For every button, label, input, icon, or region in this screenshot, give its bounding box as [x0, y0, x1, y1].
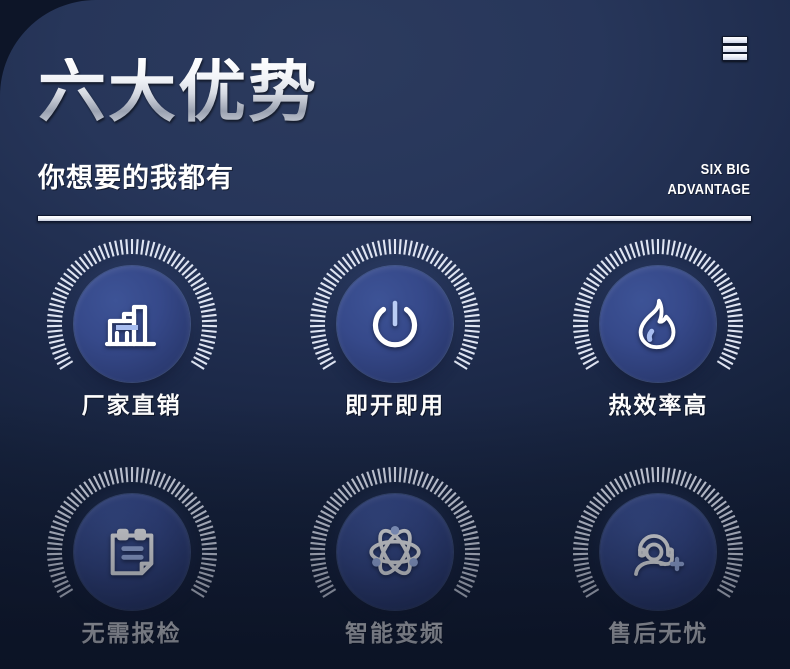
feature-icon-circle: [600, 266, 716, 382]
feature-item-flame[interactable]: 热效率高: [527, 236, 790, 420]
power-icon: [365, 294, 425, 354]
feature-badge: [572, 236, 744, 388]
header-divider: [37, 215, 752, 222]
feature-icon-circle: [74, 494, 190, 610]
feature-item-power[interactable]: 即开即用: [263, 236, 526, 420]
feature-badge: [309, 464, 481, 616]
hamburger-bar-3: [722, 53, 748, 61]
feature-badge: [572, 464, 744, 616]
feature-item-atom[interactable]: 智能变频: [263, 464, 526, 648]
page-title: 六大优势: [38, 58, 318, 126]
atom-icon: [364, 521, 426, 583]
english-eyebrow-line2: ADVANTAGE: [667, 180, 750, 200]
flame-icon: [629, 295, 687, 353]
feature-badge: [46, 464, 218, 616]
feature-item-support[interactable]: 售后无忧: [527, 464, 790, 648]
feature-item-factory[interactable]: 厂家直销: [0, 236, 263, 420]
hamburger-bar-2: [722, 45, 748, 53]
feature-badge: [46, 236, 218, 388]
banner-panel: 六大优势 你想要的我都有 SIX BIG ADVANTAGE: [0, 0, 790, 669]
feature-icon-circle: [337, 494, 453, 610]
headset-support-icon: [628, 522, 688, 582]
feature-badge: [309, 236, 481, 388]
feature-item-clipboard[interactable]: 无需报检: [0, 464, 263, 648]
page-subtitle: 你想要的我都有: [38, 156, 234, 195]
feature-icon-circle: [74, 266, 190, 382]
hamburger-menu-icon[interactable]: [722, 36, 748, 61]
clipboard-icon: [103, 523, 161, 581]
factory-icon: [102, 294, 162, 354]
hamburger-bar-1: [722, 36, 748, 44]
english-eyebrow-line1: SIX BIG: [667, 160, 750, 180]
feature-icon-circle: [600, 494, 716, 610]
feature-grid: 厂家直销 即开即用: [0, 236, 790, 648]
english-eyebrow: SIX BIG ADVANTAGE: [667, 160, 750, 200]
promo-banner: 六大优势 你想要的我都有 SIX BIG ADVANTAGE: [0, 0, 790, 669]
feature-icon-circle: [337, 266, 453, 382]
